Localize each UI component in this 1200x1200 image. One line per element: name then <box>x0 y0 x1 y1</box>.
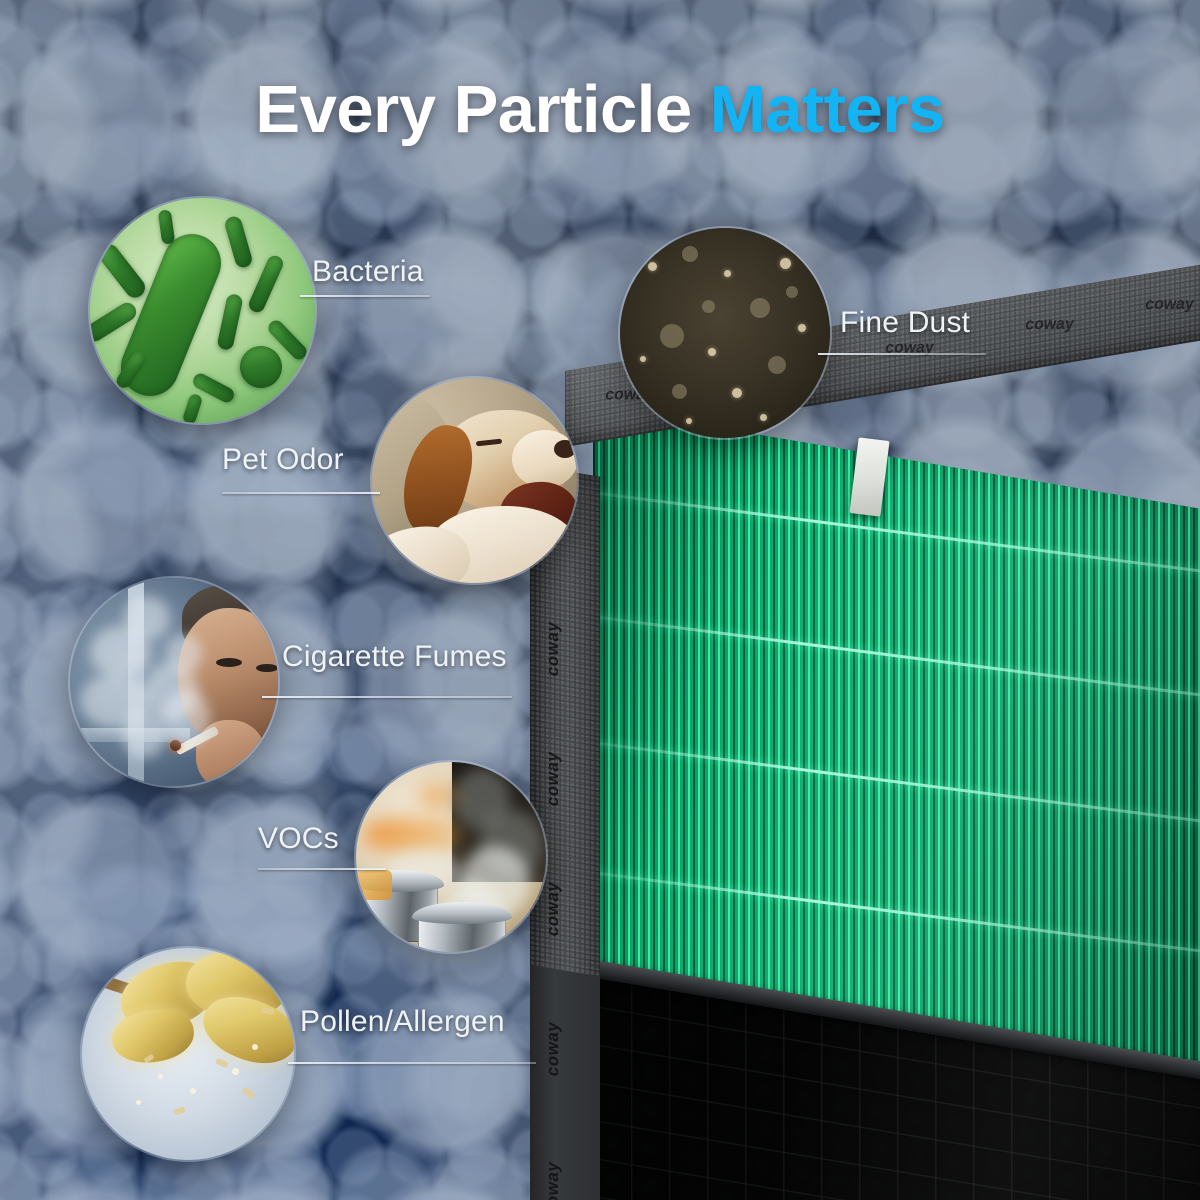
brand-label: coway <box>543 880 563 938</box>
leader-line-pet-odor <box>222 492 380 494</box>
fine-dust-image <box>620 228 830 438</box>
brand-label: coway <box>543 620 563 678</box>
bacteria-image <box>90 198 315 423</box>
cigarette-fumes-image <box>70 578 278 786</box>
pet-odor-image <box>372 378 577 583</box>
dust-icon <box>620 228 830 438</box>
callout-label-pet-odor: Pet Odor <box>222 443 344 477</box>
title-part-accent: Matters <box>710 72 945 147</box>
callout-label-fine-dust: Fine Dust <box>840 306 970 340</box>
leader-line-vocs <box>258 868 386 870</box>
pollen-image <box>82 948 294 1160</box>
leader-line-bacteria <box>300 295 430 297</box>
vocs-image <box>356 762 546 952</box>
page-title: Every Particle Matters <box>0 76 1200 143</box>
cooking-fumes-icon <box>356 762 546 952</box>
brand-label: coway <box>543 1160 563 1200</box>
brand-label: coway <box>543 1020 563 1078</box>
dog-icon <box>372 378 577 583</box>
callout-label-pollen: Pollen/Allergen <box>300 1005 505 1039</box>
pollen-icon <box>82 948 294 1160</box>
leader-line-pollen <box>288 1062 536 1064</box>
callout-label-bacteria: Bacteria <box>312 255 424 289</box>
smoke-icon <box>70 578 278 786</box>
bacteria-icon <box>90 198 315 423</box>
title-part-primary: Every Particle <box>255 72 709 147</box>
brand-label: coway <box>1024 316 1075 335</box>
brand-label: coway <box>543 750 563 808</box>
poster-canvas: Every Particle Matters coway cow <box>0 0 1200 1200</box>
callout-label-vocs: VOCs <box>258 822 339 856</box>
callout-label-cigarette-fumes: Cigarette Fumes <box>282 640 507 674</box>
leader-line-cigarette-fumes <box>262 696 512 698</box>
air-purifier-filter: coway coway coway coway coway coway cowa… <box>505 315 1200 1200</box>
leader-line-fine-dust <box>818 353 986 355</box>
brand-label: coway <box>1144 296 1195 315</box>
filter-frame-left-edge-lower: coway coway coway coway <box>530 965 600 1200</box>
